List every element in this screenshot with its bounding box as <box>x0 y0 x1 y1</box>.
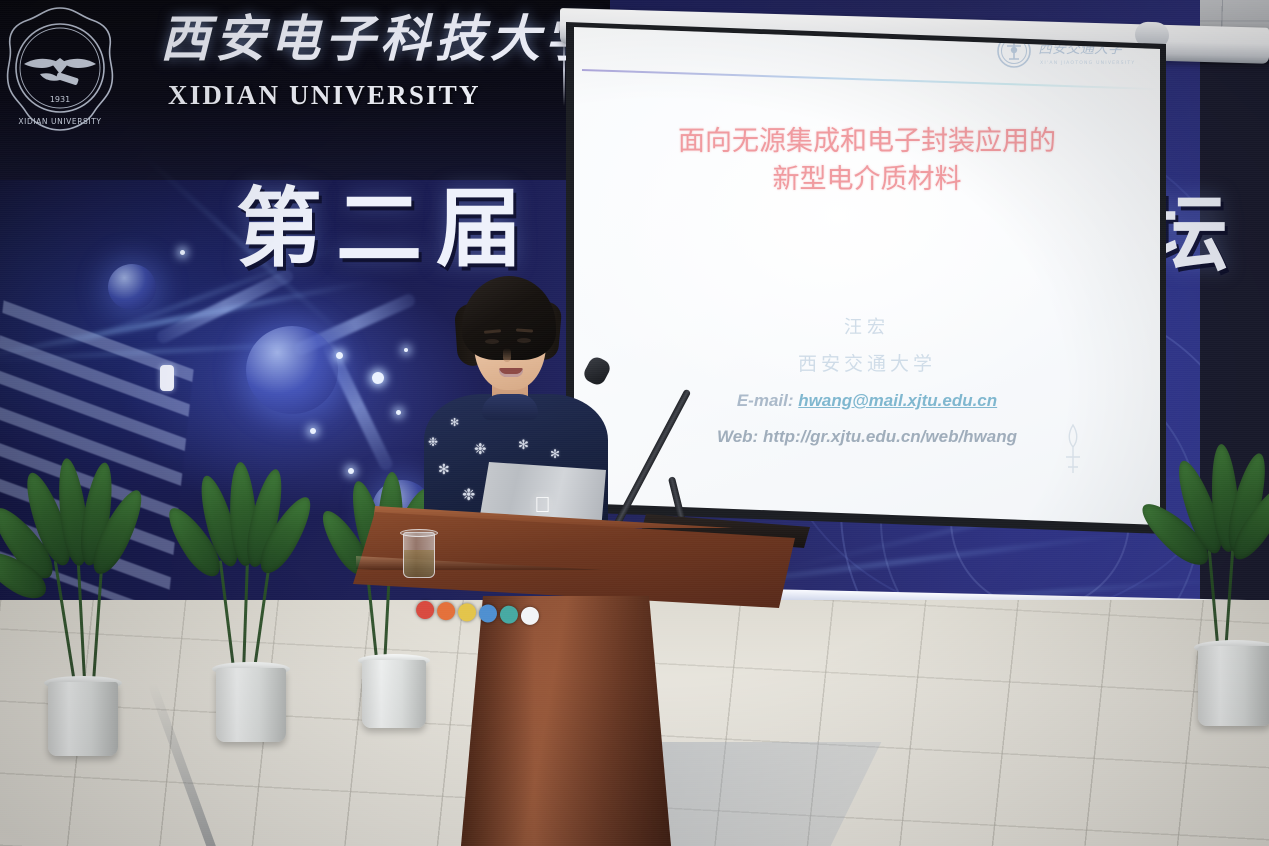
slide-affiliation: 西安交通大学 <box>574 349 1160 376</box>
banner-spark <box>372 372 384 384</box>
slide-email-link[interactable]: hwang@mail.xjtu.edu.cn <box>798 391 997 410</box>
slide-title-line2: 新型电介质材料 <box>574 161 1160 199</box>
molecule-bond <box>293 292 417 357</box>
glass-rim <box>400 529 438 537</box>
banner-spark <box>310 428 316 434</box>
sweater-snowflake: ❉ <box>462 488 475 504</box>
conference-photo-scene: 1931 XIDIAN UNIVERSITY 西安电子科技大学 XIDIAN U… <box>0 0 1269 846</box>
slide-web-label: Web: <box>717 427 758 446</box>
presenter-hair <box>462 276 556 360</box>
molecule-node <box>246 326 338 414</box>
presenter-nose <box>503 348 511 362</box>
slide-title: 面向无源集成和电子封装应用的 新型电介质材料 <box>574 123 1160 200</box>
banner-spark <box>348 468 354 474</box>
xjtu-logo-text-en: XI'AN JIAOTONG UNIVERSITY <box>1040 60 1135 66</box>
podium-sticker <box>520 606 539 625</box>
banner-chip-graphic <box>160 365 174 391</box>
slide-email-row: E-mail: hwang@mail.xjtu.edu.cn <box>574 391 1160 411</box>
sweater-snowflake: ✻ <box>438 462 450 476</box>
banner-event-title-left: 第二届 <box>236 186 536 272</box>
banner-spark <box>336 352 343 359</box>
sweater-snowflake: ✻ <box>550 448 560 460</box>
slide-presenter-name: 汪宏 <box>574 313 1160 339</box>
glass-of-tea <box>403 532 435 578</box>
banner-university-name-cn: 西安电子科技大学 <box>160 14 560 64</box>
slide-web-value[interactable]: http://gr.xjtu.edu.cn/web/hwang <box>763 427 1017 446</box>
podium-sticker <box>479 604 498 623</box>
apple-logo-icon:  <box>533 494 552 516</box>
slide-watermark <box>1060 423 1086 475</box>
podium-sticker <box>499 605 518 624</box>
slide-divider-line <box>582 69 1158 90</box>
molecule-node <box>108 264 156 310</box>
podium-shading <box>461 596 671 846</box>
presenter-eye <box>485 339 499 344</box>
banner-spark <box>180 250 185 255</box>
banner-spark <box>396 410 401 415</box>
molecule-bond <box>321 341 394 473</box>
banner-divider <box>563 34 565 106</box>
sweater-snowflake: ❉ <box>428 436 438 448</box>
sweater-snowflake: ✻ <box>450 418 459 429</box>
slide-email-label: E-mail: <box>737 391 794 410</box>
podium-sticker <box>458 603 477 622</box>
xidian-seal-logo: 1931 XIDIAN UNIVERSITY <box>2 2 118 136</box>
projection-screen-surface: 西安交通大学 XI'AN JIAOTONG UNIVERSITY 面向无源集成和… <box>574 27 1160 525</box>
tea-liquid <box>404 550 434 577</box>
presenter-mouth <box>499 368 523 377</box>
sweater-snowflake: ✻ <box>518 438 529 451</box>
slide-title-line1: 面向无源集成和电子封装应用的 <box>574 123 1160 161</box>
molecule-bond <box>155 268 296 345</box>
seal-year: 1931 <box>50 95 70 104</box>
podium-sticker <box>437 602 456 621</box>
sweater-snowflake: ❉ <box>474 442 487 457</box>
presenter-collar <box>482 394 538 420</box>
presenter-eye <box>517 338 531 343</box>
banner-university-name-en: XIDIAN UNIVERSITY <box>168 80 481 111</box>
svg-text:XIDIAN UNIVERSITY: XIDIAN UNIVERSITY <box>18 117 101 126</box>
podium-sticker <box>416 600 435 619</box>
